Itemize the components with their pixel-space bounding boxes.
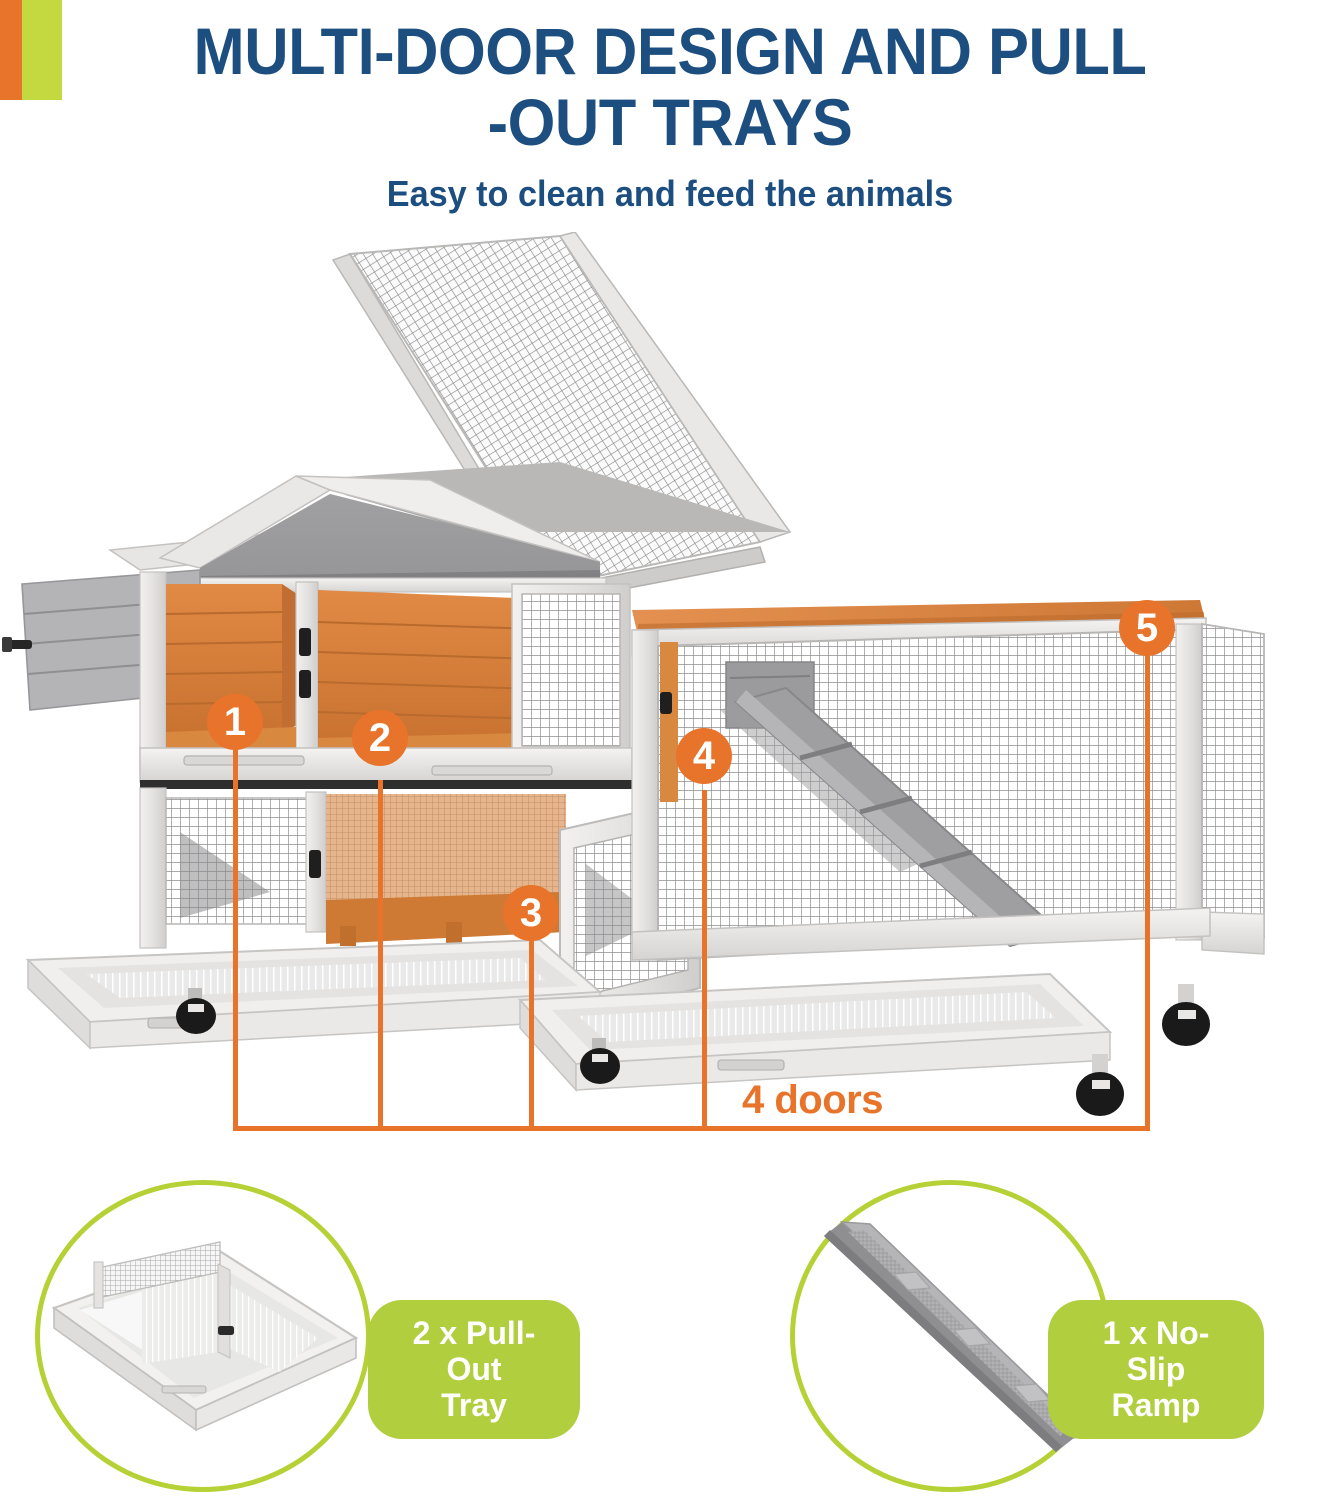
upper-right-mesh-door [512, 584, 630, 756]
doors-count-label: 4 doors [742, 1078, 883, 1123]
hinge [299, 670, 311, 698]
leader-line-3 [529, 940, 534, 1131]
callout-badge-3[interactable]: 3 [503, 885, 559, 941]
feature-label-line-2: Ramp [1112, 1387, 1201, 1423]
page-title-line-1: MULTI-DOOR DESIGN AND PULL [47, 0, 1293, 87]
page-subtitle: Easy to clean and feed the animals [34, 173, 1307, 215]
feature-label-line-2: Tray [441, 1387, 507, 1423]
tray-handle [432, 766, 552, 775]
product-illustration [0, 232, 1340, 1142]
tray-latch-icon [218, 1326, 234, 1335]
header-block: MULTI-DOOR DESIGN AND PULL -OUT TRAYS Ea… [0, 0, 1340, 215]
callout-badge-1[interactable]: 1 [207, 694, 263, 750]
hinge [309, 850, 321, 878]
tray-handle [718, 1060, 784, 1070]
leader-line-4 [702, 790, 707, 1131]
right-run-enclosure [632, 600, 1264, 960]
pull-out-tray-thumbnail [50, 1240, 360, 1460]
leader-line-2 [378, 780, 383, 1131]
feature-label-line-1: 1 x No-Slip [1103, 1315, 1210, 1387]
feature-label-line-1: 2 x Pull-Out [413, 1315, 536, 1387]
hinge [299, 628, 311, 656]
feature-label-pull-out-tray: 2 x Pull-Out Tray [368, 1300, 580, 1439]
page-title-line-2: -OUT TRAYS [47, 87, 1293, 158]
leader-line-1 [233, 745, 238, 1131]
feature-label-no-slip-ramp: 1 x No-Slip Ramp [1048, 1300, 1264, 1439]
tray-handle [162, 1386, 206, 1393]
callout-bracket-base [233, 1126, 1150, 1131]
callout-badge-4[interactable]: 4 [676, 728, 732, 784]
callout-badge-2[interactable]: 2 [352, 710, 408, 766]
lower-level [140, 788, 566, 948]
leader-line-5 [1145, 652, 1150, 1131]
callout-badge-5[interactable]: 5 [1119, 600, 1175, 656]
tray-handle [184, 756, 304, 765]
